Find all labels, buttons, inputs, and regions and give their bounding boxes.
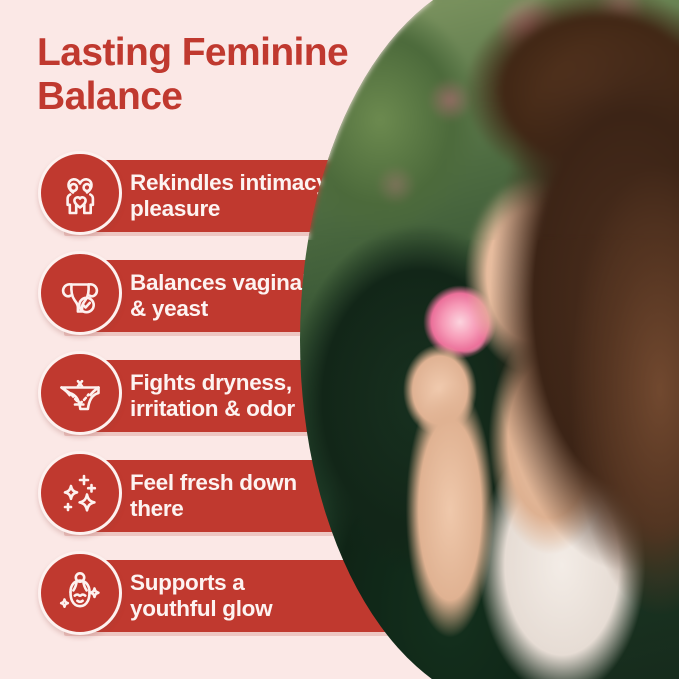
infographic-canvas: Lasting Feminine Balance Rekindles intim…: [0, 0, 679, 679]
sparkles-icon: [38, 451, 122, 535]
page-title: Lasting Feminine Balance: [37, 31, 437, 118]
feature-label: Feel fresh down there: [130, 470, 297, 522]
uterus-check-icon: [38, 251, 122, 335]
page-title-line-2: Balance: [37, 75, 437, 119]
feature-label: Fights dryness, irritation & odor: [130, 370, 295, 422]
underwear-icon: [38, 351, 122, 435]
page-title-line-1: Lasting Feminine: [37, 31, 437, 75]
woman-face-glow-icon: [38, 551, 122, 635]
couple-heart-icon: [38, 151, 122, 235]
feature-label: Supports a youthful glow: [130, 570, 272, 622]
